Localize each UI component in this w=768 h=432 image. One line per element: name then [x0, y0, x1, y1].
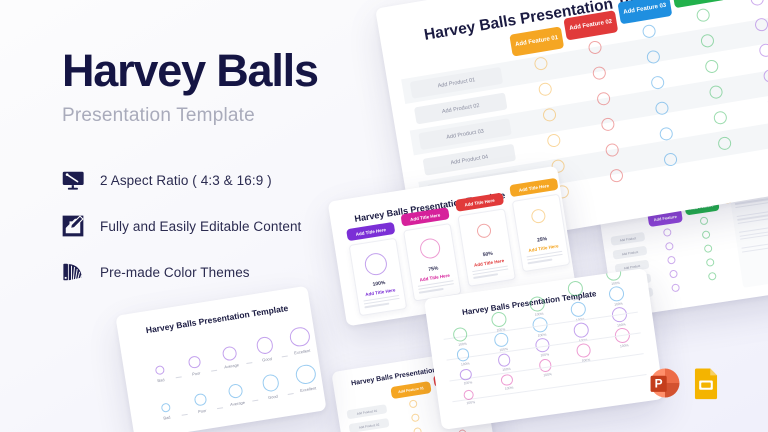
- harvey-ball: [669, 269, 678, 278]
- harvey-ball: [411, 413, 420, 422]
- harvey-ball: [749, 0, 764, 7]
- scale-label: Average: [218, 362, 244, 371]
- harvey-ball: [609, 168, 624, 183]
- harvey-ball-fill: [501, 374, 514, 387]
- harvey-ball-fill: [497, 353, 511, 367]
- harvey-ball: [704, 244, 713, 253]
- scale-connector: [288, 393, 294, 395]
- harvey-ball: [712, 110, 727, 125]
- harvey-ball: [497, 353, 511, 367]
- matrix-percent-label: 100%: [455, 360, 475, 367]
- harvey-ball: [452, 327, 468, 343]
- harvey-ball-fill: [528, 296, 545, 313]
- harvey-ball-fill: [194, 393, 207, 406]
- harvey-ball-fill: [699, 216, 708, 225]
- scale-label: Average: [224, 399, 250, 408]
- matrix-percent-label: 100%: [452, 341, 472, 348]
- row-label[interactable]: Add Product 02: [349, 418, 390, 432]
- harvey-ball-fill: [758, 43, 768, 58]
- harvey-ball-fill: [591, 66, 606, 81]
- powerpoint-icon: P: [648, 366, 682, 400]
- harvey-ball: [289, 326, 311, 348]
- harvey-ball: [576, 343, 592, 359]
- harvey-ball: [572, 322, 589, 339]
- harvey-ball: [255, 336, 274, 355]
- harvey-ball-fill: [600, 117, 615, 132]
- harvey-ball: [528, 296, 545, 313]
- harvey-ball: [456, 348, 470, 362]
- harvey-ball-fill: [569, 301, 586, 318]
- matrix-percent-label: 100%: [458, 380, 478, 387]
- matrix-percent-label: 100%: [614, 342, 634, 349]
- harvey-ball: [413, 427, 422, 432]
- harvey-ball: [663, 228, 672, 237]
- harvey-ball-fill: [702, 230, 711, 239]
- scale-connector: [217, 407, 223, 409]
- harvey-ball: [758, 43, 768, 58]
- column-header[interactable]: Add Feature 04: [672, 0, 727, 8]
- harvey-ball-ring: [160, 403, 170, 413]
- harvey-ball: [188, 355, 201, 368]
- feature-label: Fully and Easily Editable Content: [100, 219, 301, 234]
- slide-title: Harvey Balls Presentation Template: [145, 303, 289, 335]
- harvey-ball: [608, 285, 625, 302]
- harvey-ball-fill: [289, 326, 311, 348]
- monitor-icon: [62, 169, 84, 191]
- poster-canvas: Harvey Balls Presentation Template 2 Asp…: [0, 0, 768, 432]
- matrix-percent-label: 100%: [537, 371, 557, 378]
- column-header[interactable]: Add Feature 01: [509, 26, 564, 56]
- harvey-ball-fill: [494, 332, 510, 348]
- harvey-ball: [546, 133, 561, 148]
- harvey-ball-fill: [669, 269, 678, 278]
- scale-label: Excellent: [289, 348, 315, 357]
- scale-connector: [282, 355, 288, 357]
- harvey-ball: [490, 311, 507, 328]
- harvey-ball: [704, 59, 719, 74]
- harvey-ball-fill: [712, 110, 727, 125]
- harvey-ball: [695, 8, 710, 23]
- scale-label: Good: [260, 392, 286, 401]
- scale-label: Bad: [154, 413, 180, 422]
- harvey-ball-ring: [154, 365, 164, 375]
- harvey-ball: [537, 82, 552, 97]
- slide-rating-scale[interactable]: Harvey Balls Presentation Template BadPo…: [115, 286, 326, 432]
- harvey-ball-fill: [490, 311, 507, 328]
- scale-connector: [246, 362, 252, 364]
- svg-text:P: P: [655, 377, 663, 391]
- harvey-ball-fill: [537, 82, 552, 97]
- harvey-ball-fill: [704, 244, 713, 253]
- harvey-ball: [295, 363, 317, 385]
- harvey-ball-fill: [188, 355, 201, 368]
- row-label[interactable]: Add Product 01: [346, 404, 387, 419]
- harvey-ball-fill: [704, 59, 719, 74]
- harvey-ball: [708, 272, 717, 281]
- harvey-ball-fill: [255, 336, 274, 355]
- harvey-ball-fill: [222, 346, 238, 362]
- matrix-percent-label: 100%: [535, 351, 555, 358]
- harvey-ball-fill: [295, 363, 317, 385]
- harvey-ball-fill: [708, 272, 717, 281]
- harvey-ball: [569, 301, 586, 318]
- feature-item-aspect-ratio: 2 Aspect Ratio ( 4:3 & 16:9 ): [62, 169, 372, 191]
- row-label[interactable]: Add Product: [612, 246, 647, 260]
- column-header-pill[interactable]: Add Feature 01: [509, 26, 564, 56]
- page-title: Harvey Balls: [62, 48, 372, 93]
- harvey-ball-fill: [608, 285, 625, 302]
- feature-item-color-themes: Pre-made Color Themes: [62, 261, 372, 283]
- harvey-ball: [261, 373, 280, 392]
- harvey-ball-fill: [671, 283, 680, 292]
- feature-label: Pre-made Color Themes: [100, 265, 250, 280]
- column-header-pill[interactable]: Add Feature 04: [672, 0, 727, 8]
- page-subtitle: Presentation Template: [62, 105, 372, 127]
- harvey-ball-fill: [456, 348, 470, 362]
- harvey-ball-fill: [665, 242, 674, 251]
- column-header-pill[interactable]: Add Feature 03: [617, 0, 672, 24]
- scale-connector: [211, 369, 217, 371]
- app-format-icons: P: [648, 366, 723, 400]
- harvey-ball: [222, 346, 238, 362]
- feature-list: 2 Aspect Ratio ( 4:3 & 16:9 ) Fully and …: [62, 169, 372, 283]
- harvey-ball-fill: [695, 8, 710, 23]
- harvey-ball-fill: [749, 0, 764, 7]
- harvey-ball-fill: [452, 327, 468, 343]
- harvey-ball: [665, 242, 674, 251]
- feature-label: 2 Aspect Ratio ( 4:3 & 16:9 ): [100, 173, 272, 188]
- harvey-ball: [699, 216, 708, 225]
- scale-label: Bad: [148, 376, 174, 385]
- intro-block: Harvey Balls Presentation Template 2 Asp…: [62, 48, 372, 283]
- harvey-ball: [227, 383, 243, 399]
- harvey-ball-fill: [411, 413, 420, 422]
- scale-connector: [176, 376, 182, 378]
- harvey-ball-fill: [706, 258, 715, 267]
- scale-connector: [182, 414, 188, 416]
- harvey-ball: [667, 256, 676, 265]
- harvey-ball: [591, 66, 606, 81]
- harvey-ball-fill: [546, 133, 561, 148]
- color-fan-icon: [62, 261, 84, 283]
- scale-connector: [252, 400, 258, 402]
- matrix-gridline: [452, 374, 646, 402]
- harvey-ball: [501, 374, 514, 387]
- harvey-ball-fill: [576, 343, 592, 359]
- harvey-ball: [671, 283, 680, 292]
- harvey-ball: [702, 230, 711, 239]
- edit-pencil-icon: [62, 215, 84, 237]
- harvey-ball: [600, 117, 615, 132]
- harvey-ball: [459, 368, 472, 381]
- google-slides-icon: [689, 366, 723, 400]
- harvey-ball-fill: [667, 256, 676, 265]
- harvey-ball-fill: [227, 383, 243, 399]
- scale-label: Poor: [189, 406, 215, 415]
- matrix-gridline: [449, 353, 643, 381]
- harvey-ball-fill: [261, 373, 280, 392]
- feature-item-editable: Fully and Easily Editable Content: [62, 215, 372, 237]
- harvey-ball: [154, 365, 164, 375]
- harvey-ball: [160, 403, 170, 413]
- harvey-ball-fill: [572, 322, 589, 339]
- column-header[interactable]: Add Feature 03: [617, 0, 672, 24]
- harvey-ball-fill: [663, 228, 672, 237]
- column-header-pill[interactable]: Add Feature 01: [390, 381, 431, 399]
- scale-label: Excellent: [295, 385, 321, 394]
- matrix-percent-label: 100%: [499, 385, 519, 392]
- harvey-ball: [194, 393, 207, 406]
- harvey-ball: [409, 399, 418, 408]
- harvey-ball-ring: [609, 168, 624, 183]
- harvey-ball-fill: [459, 368, 472, 381]
- scale-label: Poor: [183, 369, 209, 378]
- harvey-ball-fill: [413, 427, 422, 432]
- harvey-ball: [494, 332, 510, 348]
- row-label[interactable]: Add Product: [610, 232, 645, 246]
- harvey-ball-fill: [409, 399, 418, 408]
- harvey-ball: [706, 258, 715, 267]
- scale-label: Good: [254, 355, 280, 364]
